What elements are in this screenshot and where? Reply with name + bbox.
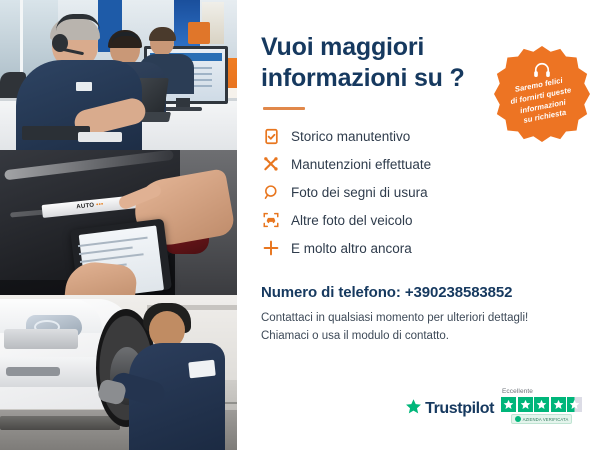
auto-sticker-text: AUTO	[76, 203, 95, 211]
name-badge-decor	[76, 82, 92, 91]
star-half-icon	[567, 397, 582, 412]
verified-check-icon	[515, 416, 521, 422]
star-filled-icon	[551, 397, 566, 412]
verified-company-label: AZIENDA VERIFICATA	[523, 417, 569, 422]
call-center-agents-photo	[0, 0, 237, 150]
paper-decor	[78, 132, 122, 142]
headset-band-decor	[56, 14, 100, 31]
list-item: Altre foto del veicolo	[261, 206, 578, 234]
car-focus-frame-icon	[261, 210, 281, 230]
list-item-label: Storico manutentivo	[291, 129, 410, 144]
headline-line-1: Vuoi maggiori	[261, 33, 424, 61]
plus-icon	[261, 238, 281, 258]
trustpilot-wordmark: Trustpilot	[425, 400, 494, 418]
list-item: E molto altro ancora	[261, 234, 578, 262]
title-divider	[263, 107, 305, 110]
clipboard-check-icon	[261, 126, 281, 146]
star-filled-icon	[501, 397, 516, 412]
phone-number-line[interactable]: Numero di telefono: +390238583852	[261, 284, 578, 301]
headline-line-2: informazioni su ?	[261, 64, 465, 92]
list-item: Manutenzioni effettuate	[261, 150, 578, 178]
trustpilot-brand: Trustpilot	[405, 398, 494, 424]
contact-description-line-2: Chiamaci o usa il modulo di contatto.	[261, 328, 578, 346]
trustpilot-widget[interactable]: Trustpilot Eccellente AZIENDA VERIFICATA	[405, 388, 582, 424]
tablet-inspection-photo: AUTO •••	[0, 150, 237, 295]
contact-description: Contattaci in qualsiasi momento per ulte…	[261, 310, 578, 346]
trustpilot-rating-block: Eccellente AZIENDA VERIFICATA	[501, 388, 582, 424]
content-panel: Vuoi maggioriinformazioni su ? Storico m…	[237, 0, 600, 450]
trustpilot-star-icon	[405, 398, 422, 420]
grille-decor	[4, 329, 78, 349]
poster-decor-3	[188, 22, 210, 44]
photo-column: AUTO •••	[0, 0, 237, 450]
crossed-tools-icon	[261, 154, 281, 174]
magnifier-icon	[261, 182, 281, 202]
mechanic-badge-decor	[188, 360, 216, 379]
star-filled-icon	[534, 397, 549, 412]
monitor-base-decor	[164, 107, 202, 111]
contact-description-line-1: Contattaci in qualsiasi momento per ulte…	[261, 310, 578, 328]
star-filled-icon	[518, 397, 533, 412]
mechanic-wheel-photo	[0, 295, 237, 450]
car-lift-decor	[0, 416, 120, 430]
list-item: Foto dei segni di usura	[261, 178, 578, 206]
list-item-label: Foto dei segni di usura	[291, 185, 428, 200]
features-list: Storico manutentivo Manutenzioni effettu…	[261, 122, 578, 262]
callout-badge: Saremo felici di fornirti queste informa…	[494, 46, 590, 142]
page-title: Vuoi maggioriinformazioni su ?	[261, 32, 471, 93]
list-item-label: Manutenzioni effettuate	[291, 157, 431, 172]
trustpilot-rating-label: Eccellente	[502, 388, 533, 395]
trustpilot-stars	[501, 397, 582, 412]
list-item-label: E molto altro ancora	[291, 241, 412, 256]
air-vent-decor	[6, 367, 60, 376]
verified-company-badge: AZIENDA VERIFICATA	[511, 414, 573, 424]
promo-banner: AUTO •••	[0, 0, 600, 450]
list-item-label: Altre foto del veicolo	[291, 213, 413, 228]
